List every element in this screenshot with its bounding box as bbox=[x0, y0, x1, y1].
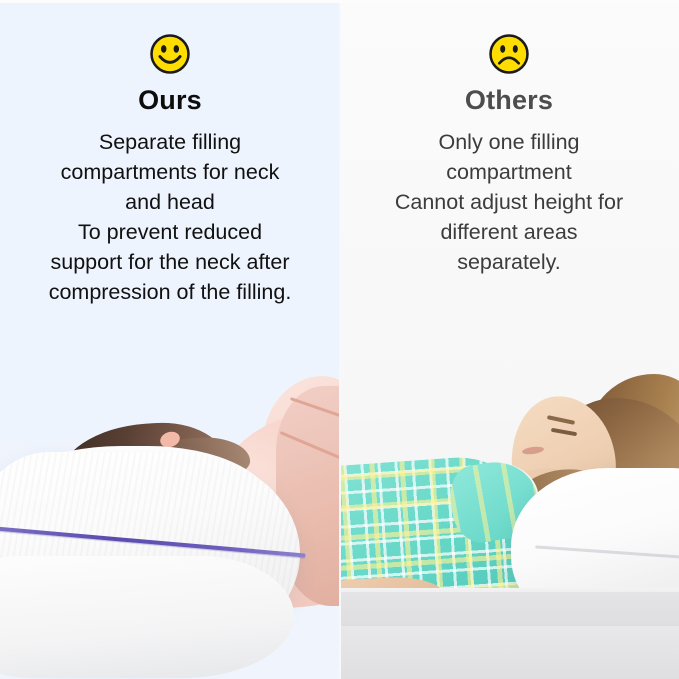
comparison-poster: Ours Separate filling compartments for n… bbox=[0, 0, 679, 679]
panel-ours: Ours Separate filling compartments for n… bbox=[0, 0, 340, 679]
panel-body-ours: Separate filling compartments for neck a… bbox=[0, 127, 340, 307]
panel-others: Others Only one filling compartment Cann… bbox=[339, 0, 679, 679]
smiley-face-icon bbox=[0, 33, 340, 79]
panel-divider bbox=[339, 0, 341, 679]
top-edge-hairline bbox=[0, 0, 679, 3]
frowning-face-icon bbox=[339, 33, 679, 79]
panel-title-ours: Ours bbox=[0, 85, 340, 116]
panel-title-others: Others bbox=[339, 85, 679, 116]
others-text-block: Others Only one filling compartment Cann… bbox=[339, 0, 679, 340]
contoured-pillow-lower-compartment bbox=[0, 556, 294, 678]
panel-body-others: Only one filling compartment Cannot adju… bbox=[339, 127, 679, 277]
bed-sheet-foreground bbox=[339, 626, 679, 679]
ours-text-block: Ours Separate filling compartments for n… bbox=[0, 0, 340, 340]
